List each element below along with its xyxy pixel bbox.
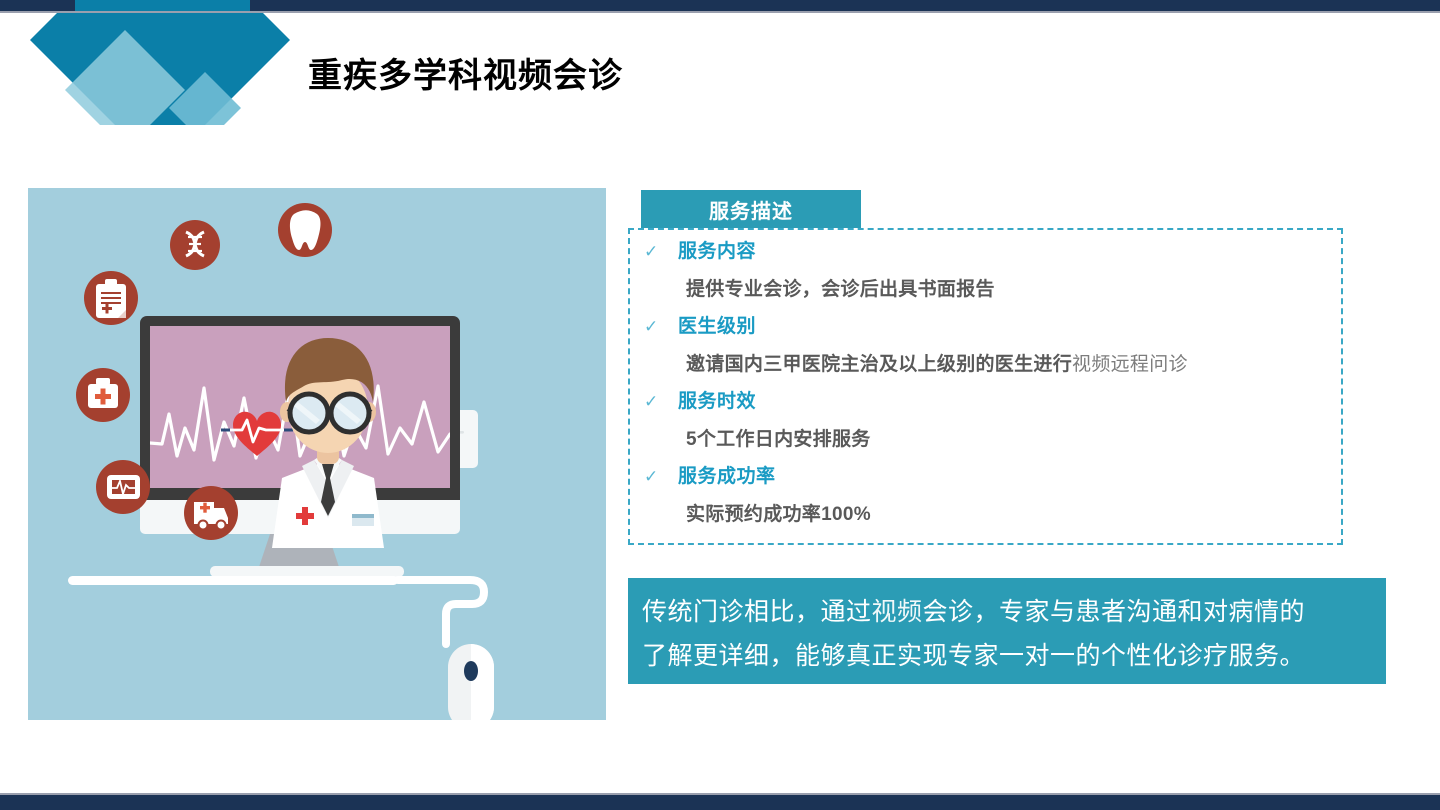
service-item-title: 医生级别 xyxy=(678,311,756,338)
list-item: ✓ 医生级别 邀请国内三甲医院主治及以上级别的医生进行视频远程问诊 xyxy=(640,311,1340,385)
check-icon: ✓ xyxy=(640,467,678,487)
service-item-desc-main: 5个工作日内安排服务 xyxy=(686,429,871,450)
check-icon: ✓ xyxy=(640,242,678,262)
dna-icon xyxy=(170,220,220,270)
medical-video-consultation-illustration xyxy=(28,188,606,720)
service-item-desc: 邀请国内三甲医院主治及以上级别的医生进行视频远程问诊 xyxy=(686,345,1340,385)
service-item-desc-main: 邀请国内三甲医院主治及以上级别的医生进行 xyxy=(686,354,1072,375)
ambulance-icon xyxy=(184,486,238,540)
service-item-desc: 实际预约成功率100% xyxy=(686,495,1340,535)
tooth-icon xyxy=(278,203,332,257)
service-item-desc-main: 提供专业会诊，会诊后出具书面报告 xyxy=(686,279,995,300)
service-item-desc: 5个工作日内安排服务 xyxy=(686,420,1340,460)
check-icon: ✓ xyxy=(640,392,678,412)
callout-line-2: 了解更详细，能够真正实现专家一对一的个性化诊疗服务。 xyxy=(642,634,1372,678)
summary-callout: 传统门诊相比，通过视频会诊，专家与患者沟通和对病情的 了解更详细，能够真正实现专… xyxy=(628,578,1386,684)
callout-line-1-thin: 视频 xyxy=(872,598,923,626)
first-aid-kit-icon xyxy=(76,368,130,422)
check-icon: ✓ xyxy=(640,317,678,337)
service-item-list: ✓ 服务内容 提供专业会诊，会诊后出具书面报告 ✓ 医生级别 邀请国内三甲医院主… xyxy=(640,236,1340,536)
service-description-badge: 服务描述 xyxy=(641,190,861,228)
mouse xyxy=(448,644,494,720)
page-title: 重疾多学科视频会诊 xyxy=(308,48,623,97)
service-item-desc-thin: 视频远程问诊 xyxy=(1072,354,1188,375)
callout-line-1: 传统门诊相比，通过视频会诊，专家与患者沟通和对病情的 xyxy=(642,590,1372,634)
list-item: ✓ 服务时效 5个工作日内安排服务 xyxy=(640,386,1340,460)
callout-line-1b: 会诊，专家与患者沟通和对病情的 xyxy=(923,598,1306,626)
clipboard-icon xyxy=(84,271,138,325)
service-item-desc: 提供专业会诊，会诊后出具书面报告 xyxy=(686,270,1340,310)
callout-line-1a: 传统门诊相比，通过 xyxy=(642,598,872,626)
slide-bottom-bar xyxy=(0,795,1440,810)
service-item-title: 服务内容 xyxy=(678,236,756,263)
header-diamond-decoration xyxy=(0,0,300,125)
ecg-monitor-icon xyxy=(96,460,150,514)
service-item-desc-main: 实际预约成功率100% xyxy=(686,504,871,525)
service-item-title: 服务时效 xyxy=(678,386,756,413)
list-item: ✓ 服务成功率 实际预约成功率100% xyxy=(640,461,1340,535)
list-item: ✓ 服务内容 提供专业会诊，会诊后出具书面报告 xyxy=(640,236,1340,310)
service-item-title: 服务成功率 xyxy=(678,461,776,488)
